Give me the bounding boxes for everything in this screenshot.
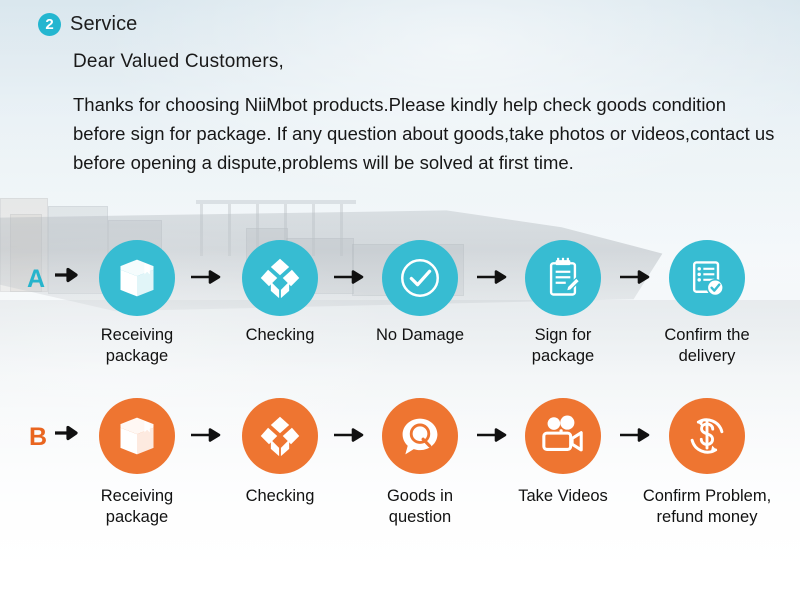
flow-step-a-4: Sign for package bbox=[493, 240, 633, 367]
background-crane-beam bbox=[196, 200, 356, 204]
flow-step-b-3: Goods in question bbox=[350, 398, 490, 528]
flow-step-label: Goods in question bbox=[350, 486, 490, 528]
salutation-text: Dear Valued Customers, bbox=[73, 51, 284, 73]
question-bubble-icon bbox=[382, 398, 458, 474]
video-camera-icon bbox=[525, 398, 601, 474]
open-box-icon bbox=[242, 398, 318, 474]
flow-step-b-1: Receiving package bbox=[67, 398, 207, 528]
document-verified-icon bbox=[669, 240, 745, 316]
flow-step-label: Receiving package bbox=[67, 325, 207, 367]
flow-step-a-1: Receiving package bbox=[67, 240, 207, 367]
intro-paragraph: Thanks for choosing NiiMbot products.Ple… bbox=[73, 90, 783, 177]
open-box-icon bbox=[242, 240, 318, 316]
flow-step-label: Checking bbox=[210, 325, 350, 346]
flow-step-label: Confirm Problem, refund money bbox=[637, 486, 777, 528]
refund-money-icon bbox=[669, 398, 745, 474]
flow-letter-b: B bbox=[29, 425, 47, 450]
flow-letter-a: A bbox=[27, 267, 45, 292]
flow-step-label: No Damage bbox=[350, 325, 490, 346]
flow-step-a-3: No Damage bbox=[350, 240, 490, 346]
clipboard-sign-icon bbox=[525, 240, 601, 316]
flow-step-a-5: Confirm the delivery bbox=[637, 240, 777, 367]
flow-step-b-2: Checking bbox=[210, 398, 350, 507]
section-header: 2 Service bbox=[38, 13, 137, 36]
package-box-icon bbox=[99, 398, 175, 474]
flow-step-label: Receiving package bbox=[67, 486, 207, 528]
section-number-badge: 2 bbox=[38, 13, 61, 36]
flow-step-label: Sign for package bbox=[493, 325, 633, 367]
flow-step-a-2: Checking bbox=[210, 240, 350, 346]
package-box-icon bbox=[99, 240, 175, 316]
page-title: Service bbox=[70, 13, 137, 36]
flow-step-label: Confirm the delivery bbox=[637, 325, 777, 367]
service-infographic-page: 2 Service Dear Valued Customers, Thanks … bbox=[0, 0, 800, 592]
check-circle-icon bbox=[382, 240, 458, 316]
flow-step-label: Take Videos bbox=[493, 486, 633, 507]
flow-step-label: Checking bbox=[210, 486, 350, 507]
flow-step-b-5: Confirm Problem, refund money bbox=[637, 398, 777, 528]
flow-step-b-4: Take Videos bbox=[493, 398, 633, 507]
